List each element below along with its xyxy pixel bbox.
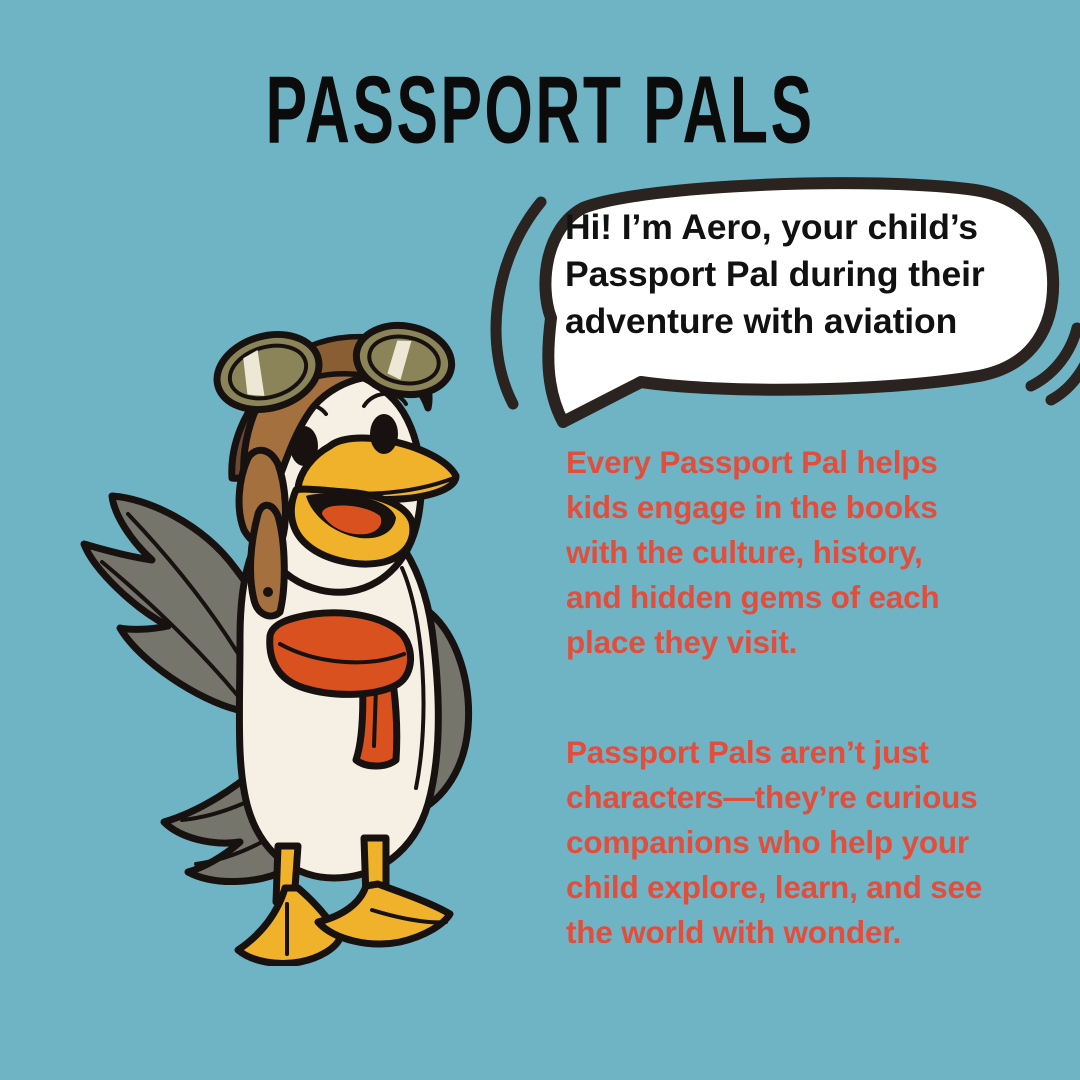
body-line: and hidden gems of each xyxy=(566,575,1036,620)
body-line: Passport Pals aren’t just xyxy=(566,730,1036,775)
body-line: kids engage in the books xyxy=(566,485,1036,530)
body-line: child explore, learn, and see xyxy=(566,865,1036,910)
body-line: companions who help your xyxy=(566,820,1036,865)
speech-bubble-line: Passport Pal during their xyxy=(565,251,1030,298)
duck-beak xyxy=(291,438,456,564)
speech-bubble-line: adventure with aviation xyxy=(565,298,1030,345)
body-line: characters—they’re curious xyxy=(566,775,1036,820)
speech-bubble-text: Hi! I’m Aero, your child’s Passport Pal … xyxy=(565,204,1030,346)
body-line: place they visit. xyxy=(566,620,1036,665)
speech-bubble-line: Hi! I’m Aero, your child’s xyxy=(565,204,1030,251)
duck-feet xyxy=(238,884,450,964)
body-line: the world with wonder. xyxy=(566,910,1036,955)
aero-duck-illustration: .ol { stroke:#17120F; stroke-width:7; st… xyxy=(72,318,512,966)
poster-canvas: PASSPORT PALS .ol { stroke:#17120F; stro… xyxy=(0,0,1080,1080)
speech-bubble: Hi! I’m Aero, your child’s Passport Pal … xyxy=(455,168,1080,428)
body-line: with the culture, history, xyxy=(566,530,1036,575)
body-paragraph-1: Every Passport Pal helps kids engage in … xyxy=(566,440,1036,665)
body-paragraph-2: Passport Pals aren’t just characters—the… xyxy=(566,730,1036,955)
body-line: Every Passport Pal helps xyxy=(566,440,1036,485)
bubble-sketch-arc xyxy=(496,202,541,404)
page-title: PASSPORT PALS xyxy=(108,62,972,157)
